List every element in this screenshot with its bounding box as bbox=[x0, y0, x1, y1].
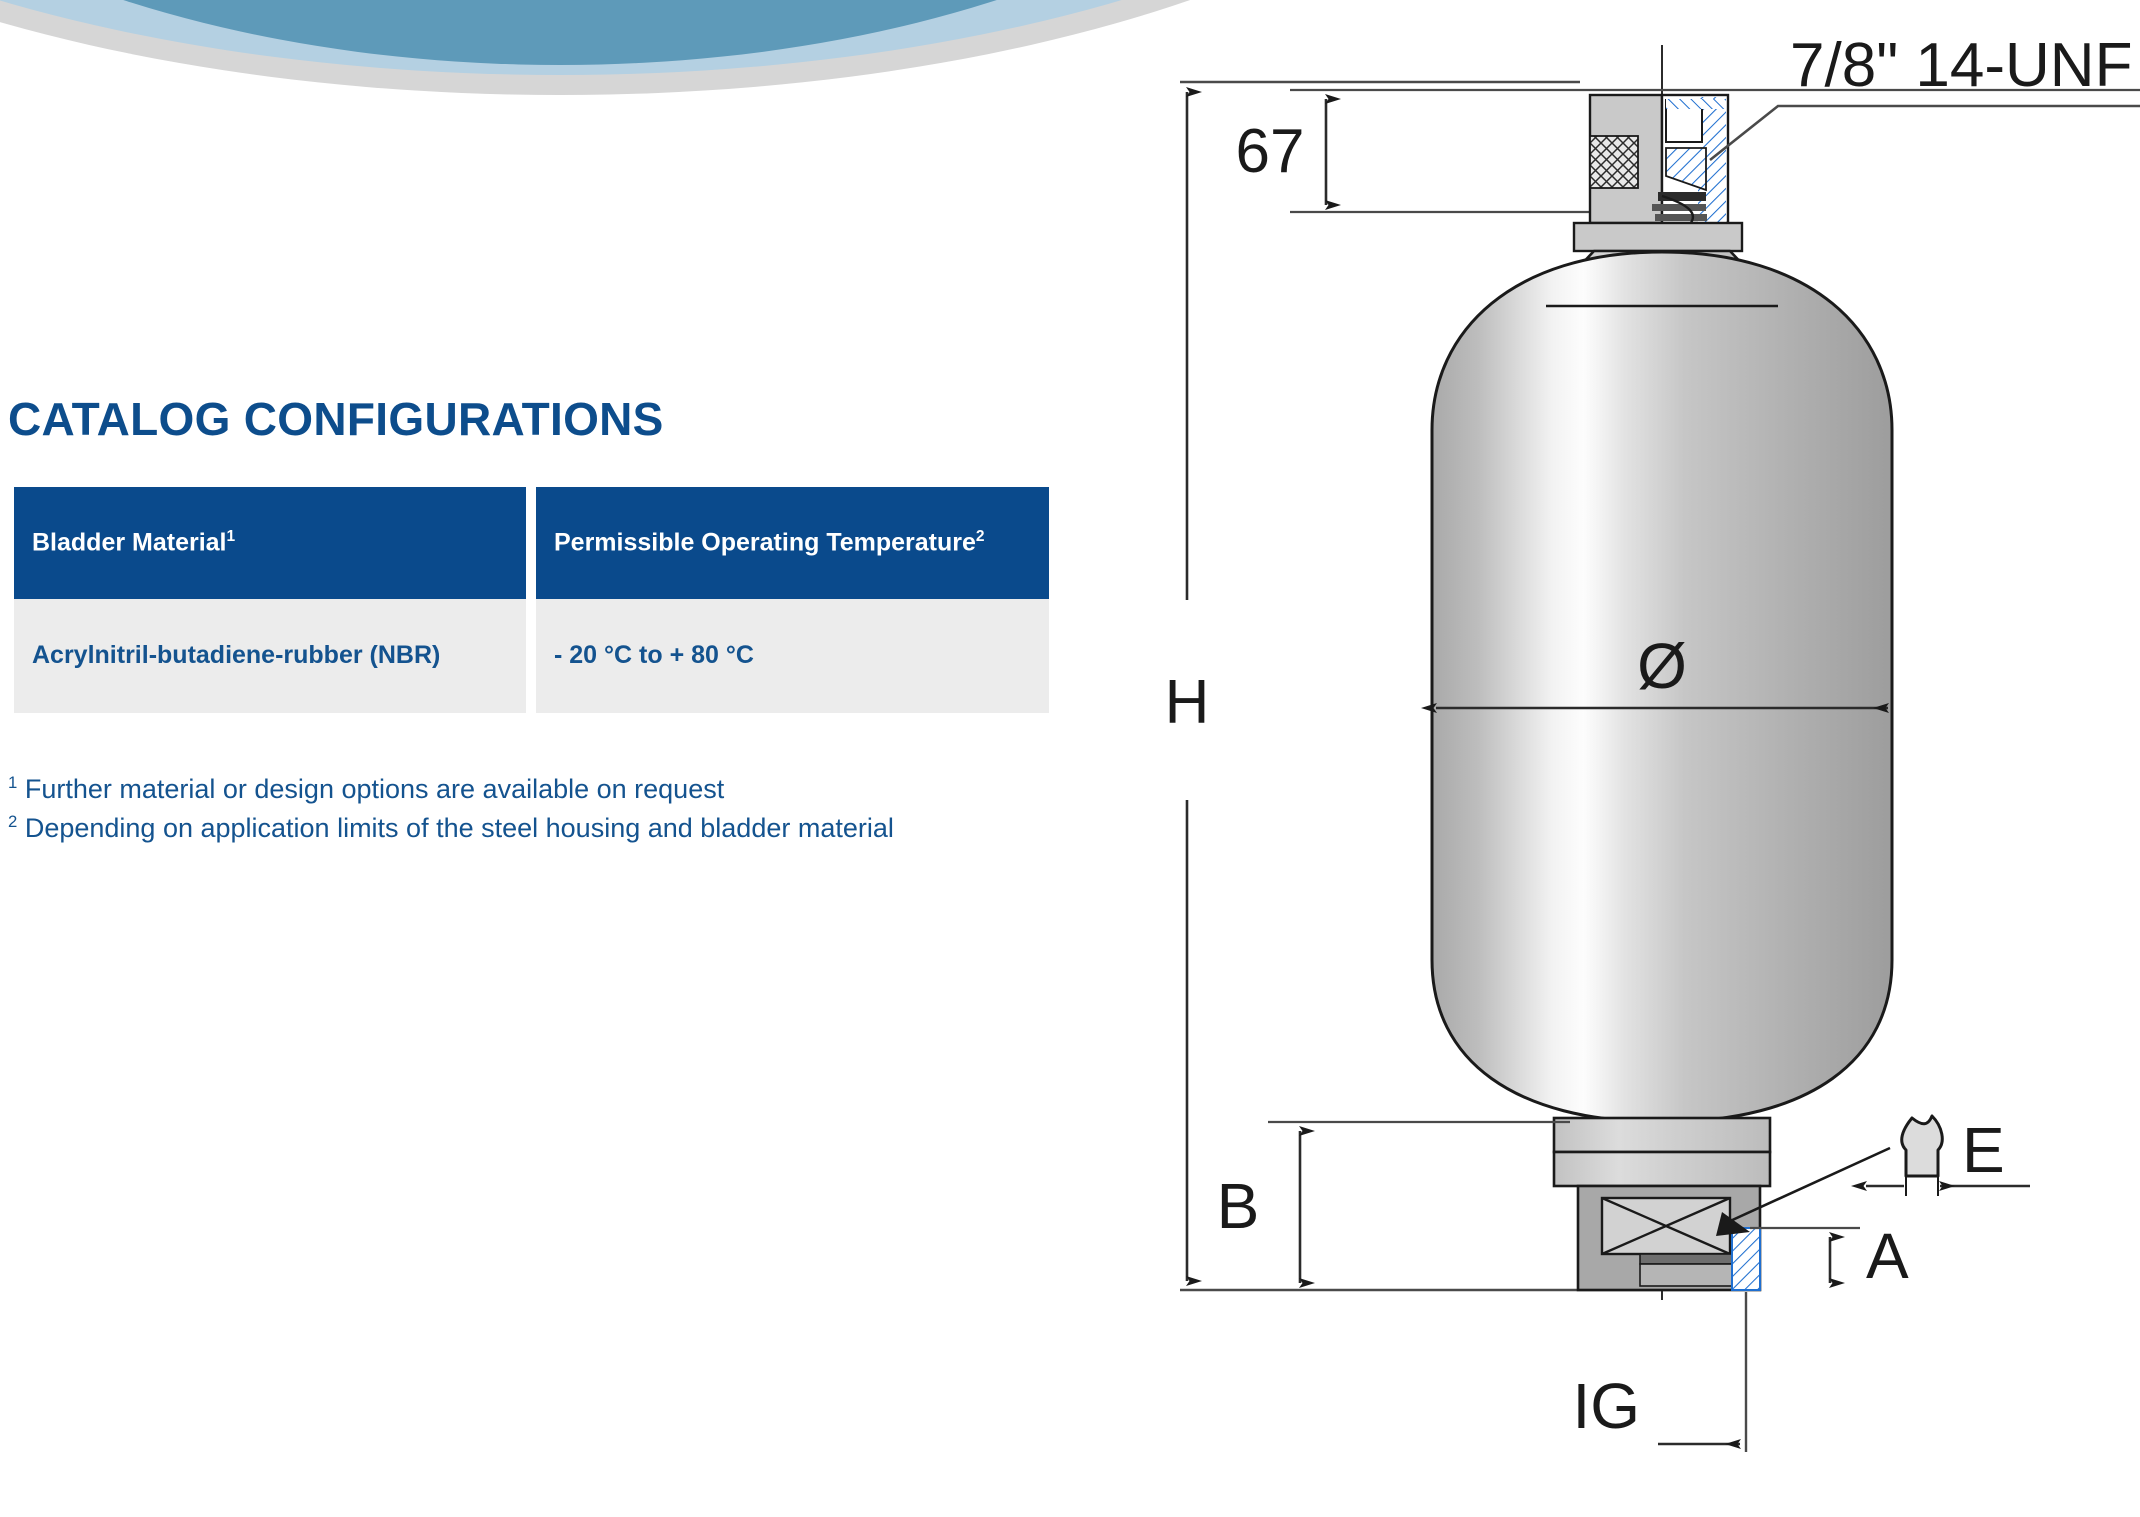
cell-bladder-material: Acrylnitril-butadiene-rubber (NBR) bbox=[14, 599, 526, 713]
decorative-arc-svg bbox=[0, 0, 1200, 110]
dimension-label-a: A bbox=[1866, 1220, 1909, 1292]
table-column-divider bbox=[526, 487, 536, 599]
port-seat-1 bbox=[1640, 1254, 1732, 1264]
port-seal-hatch bbox=[1732, 1228, 1760, 1290]
footnote-2: 2 Depending on application limits of the… bbox=[8, 809, 894, 848]
dimension-label-67: 67 bbox=[1236, 117, 1305, 186]
dimension-a: A bbox=[1750, 1220, 1909, 1292]
table-column-divider bbox=[526, 599, 536, 713]
column-header-bladder-material-label: Bladder Material bbox=[32, 529, 227, 557]
valve-knurl bbox=[1590, 136, 1638, 188]
thread-leader-line bbox=[1710, 106, 2140, 160]
column-header-operating-temperature-label: Permissible Operating Temperature bbox=[554, 529, 976, 557]
footnote-1-mark: 1 bbox=[8, 773, 17, 792]
callout-thread: 7/8" 14-UNF bbox=[1710, 31, 2140, 160]
dimension-label-h: H bbox=[1165, 668, 1210, 737]
footnote-1: 1 Further material or design options are… bbox=[8, 770, 894, 809]
collar-band-upper bbox=[1554, 1118, 1770, 1152]
footnotes: 1 Further material or design options are… bbox=[8, 770, 894, 848]
accumulator-technical-drawing: H 67 7/8" 14-UNF bbox=[1150, 0, 2140, 1512]
column-header-bladder-material: Bladder Material1 bbox=[14, 487, 526, 599]
valve-cap-hatch bbox=[1666, 99, 1726, 109]
port-seat-2 bbox=[1640, 1264, 1732, 1286]
decorative-header-arc bbox=[0, 0, 1200, 110]
dimension-ig: IG bbox=[1572, 1292, 1746, 1452]
gas-valve-assembly bbox=[1574, 95, 1742, 251]
column-header-operating-temperature: Permissible Operating Temperature2 bbox=[536, 487, 1049, 599]
seal-profile-icon bbox=[1902, 1116, 1943, 1176]
cell-operating-temperature: - 20 °C to + 80 °C bbox=[536, 599, 1049, 713]
table-header-row: Bladder Material1 Permissible Operating … bbox=[14, 487, 1049, 599]
footnote-1-text: Further material or design options are a… bbox=[25, 774, 724, 804]
footnote-2-text: Depending on application limits of the s… bbox=[25, 813, 894, 843]
accumulator-drawing-svg: H 67 7/8" 14-UNF bbox=[1150, 0, 2140, 1512]
catalog-configurations-table: Bladder Material1 Permissible Operating … bbox=[14, 487, 1049, 713]
footnote-2-mark: 2 bbox=[8, 812, 17, 831]
dimension-label-b: B bbox=[1217, 1170, 1260, 1242]
oil-port-block bbox=[1578, 1186, 1760, 1290]
valve-poppet-3 bbox=[1655, 214, 1707, 221]
collar-band-lower bbox=[1554, 1152, 1770, 1186]
bottom-collar bbox=[1554, 1118, 1770, 1186]
callout-label-thread: 7/8" 14-UNF bbox=[1790, 31, 2132, 100]
dimension-label-e: E bbox=[1962, 1114, 2005, 1186]
dimension-b: B bbox=[1217, 1122, 1570, 1283]
dimension-label-diameter: Ø bbox=[1637, 630, 1687, 702]
valve-base-flange bbox=[1574, 223, 1742, 251]
table-row: Acrylnitril-butadiene-rubber (NBR) - 20 … bbox=[14, 599, 1049, 713]
column-header-operating-temperature-note: 2 bbox=[976, 528, 985, 545]
dimension-label-ig: IG bbox=[1572, 1370, 1640, 1442]
valve-poppet-2 bbox=[1652, 204, 1706, 211]
column-header-bladder-material-note: 1 bbox=[227, 528, 236, 545]
page-title: CATALOG CONFIGURATIONS bbox=[8, 392, 664, 446]
